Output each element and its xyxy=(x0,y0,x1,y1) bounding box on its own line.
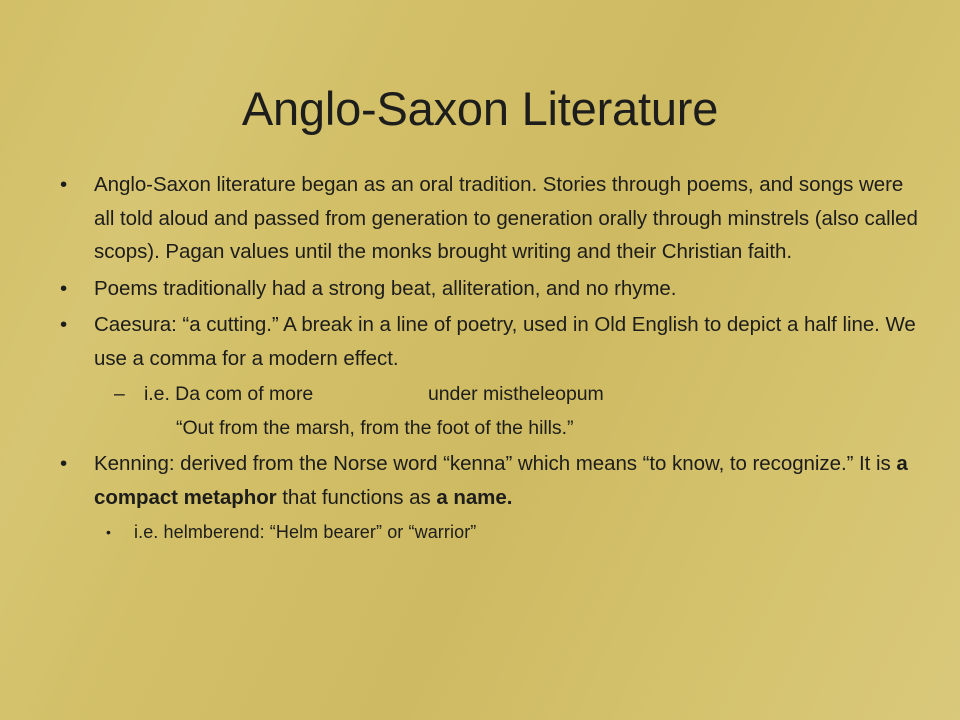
caesura-example-line: – i.e. Da com of more under mistheleopum xyxy=(48,378,920,411)
bullet-poems-beat: • Poems traditionally had a strong beat,… xyxy=(48,272,920,306)
caesura-translation-text: “Out from the marsh, from the foot of th… xyxy=(176,417,573,439)
slide-canvas: Anglo-Saxon Literature • Anglo-Saxon lit… xyxy=(0,0,960,720)
kenning-example-text: i.e. helmberend: “Helm bearer” or “warri… xyxy=(134,522,476,542)
kenning-text-part-2: that functions as xyxy=(277,486,437,509)
kenning-example-line: • i.e. helmberend: “Helm bearer” or “war… xyxy=(48,517,920,548)
kenning-text-part-1: Kenning: derived from the Norse word “ke… xyxy=(94,452,896,475)
caesura-translation: “Out from the marsh, from the foot of th… xyxy=(48,411,920,445)
bullet-marker-icon: • xyxy=(60,272,67,306)
bullet-text: Kenning: derived from the Norse word “ke… xyxy=(94,447,920,514)
bullet-caesura: • Caesura: “a cutting.” A break in a lin… xyxy=(48,308,920,375)
bullet-oral-tradition: • Anglo-Saxon literature began as an ora… xyxy=(48,168,920,269)
bullet-text: Anglo-Saxon literature began as an oral … xyxy=(94,168,920,269)
bullet-text: Poems traditionally had a strong beat, a… xyxy=(94,272,920,306)
caesura-second-half: under mistheleopum xyxy=(428,383,604,405)
bullet-kenning: • Kenning: derived from the Norse word “… xyxy=(48,447,920,514)
bullet-marker-icon: • xyxy=(60,447,67,481)
bullet-text: Caesura: “a cutting.” A break in a line … xyxy=(94,308,920,375)
kenning-bold-a-name: a name. xyxy=(436,486,512,509)
bullet-marker-icon: • xyxy=(106,517,111,548)
caesura-first-half: i.e. Da com of more xyxy=(144,383,313,405)
dash-marker-icon: – xyxy=(114,378,125,411)
slide-title: Anglo-Saxon Literature xyxy=(0,83,960,135)
slide-body: • Anglo-Saxon literature began as an ora… xyxy=(48,168,920,548)
slide-content: Anglo-Saxon Literature • Anglo-Saxon lit… xyxy=(0,0,960,720)
bullet-marker-icon: • xyxy=(60,308,67,342)
bullet-marker-icon: • xyxy=(60,168,67,202)
